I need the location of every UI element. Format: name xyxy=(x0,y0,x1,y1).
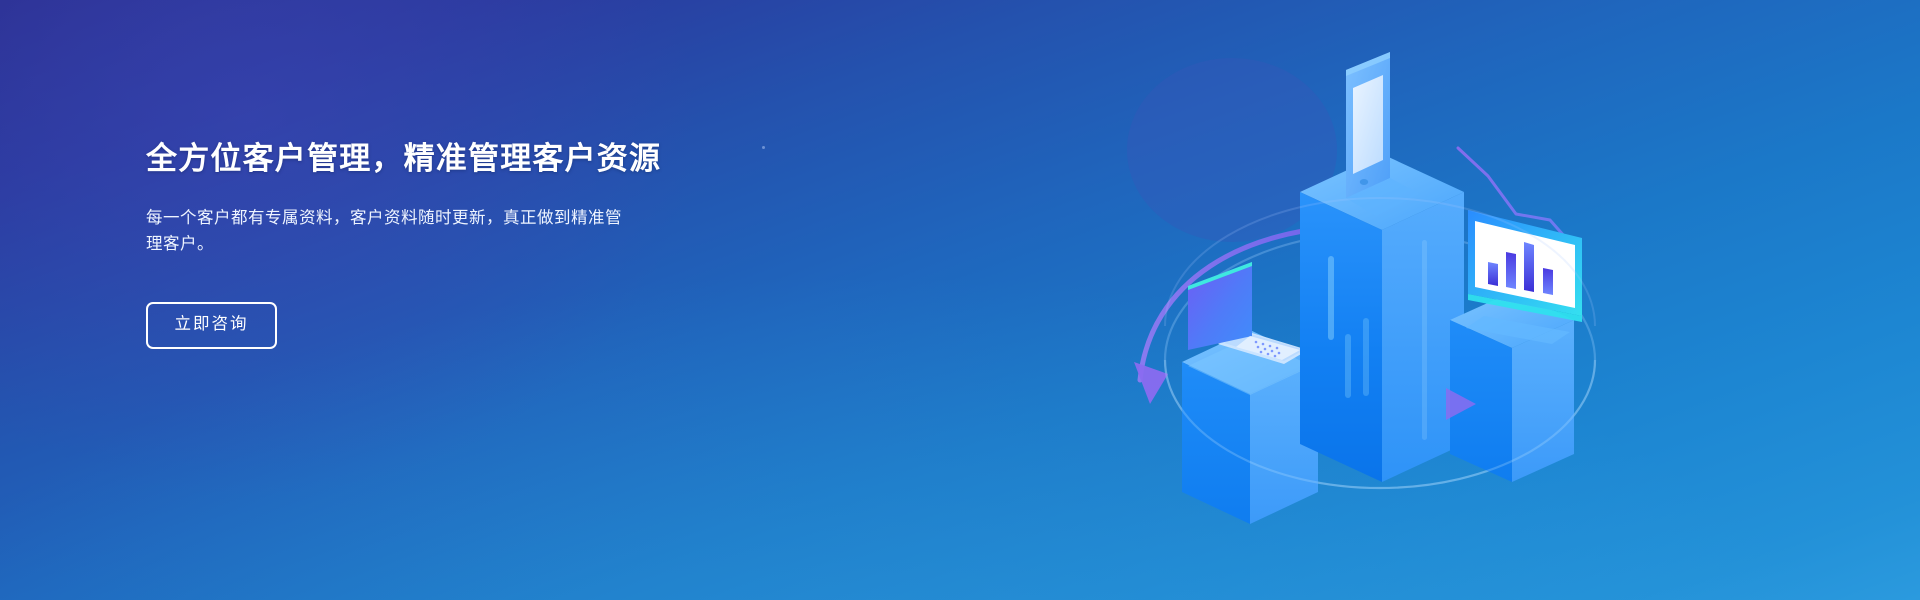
page-title: 全方位客户管理，精准管理客户资源 xyxy=(146,140,786,179)
isometric-illustration xyxy=(1132,30,1652,590)
hero-subcopy: 每一个客户都有专属资料，客户资料随时更新，真正做到精准管理客户。 xyxy=(146,205,636,258)
laptop-icon xyxy=(1188,262,1308,364)
left-pillar xyxy=(1182,330,1318,524)
cta-wrapper: 立即咨询 xyxy=(146,302,786,349)
consult-now-button[interactable]: 立即咨询 xyxy=(146,302,277,349)
tablet-icon xyxy=(1346,52,1420,216)
hero-content: 全方位客户管理，精准管理客户资源 每一个客户都有专属资料，客户资料随时更新，真正… xyxy=(146,140,786,349)
right-pillar xyxy=(1450,292,1574,482)
hero-banner: 全方位客户管理，精准管理客户资源 每一个客户都有专属资料，客户资料随时更新，真正… xyxy=(0,0,1920,600)
